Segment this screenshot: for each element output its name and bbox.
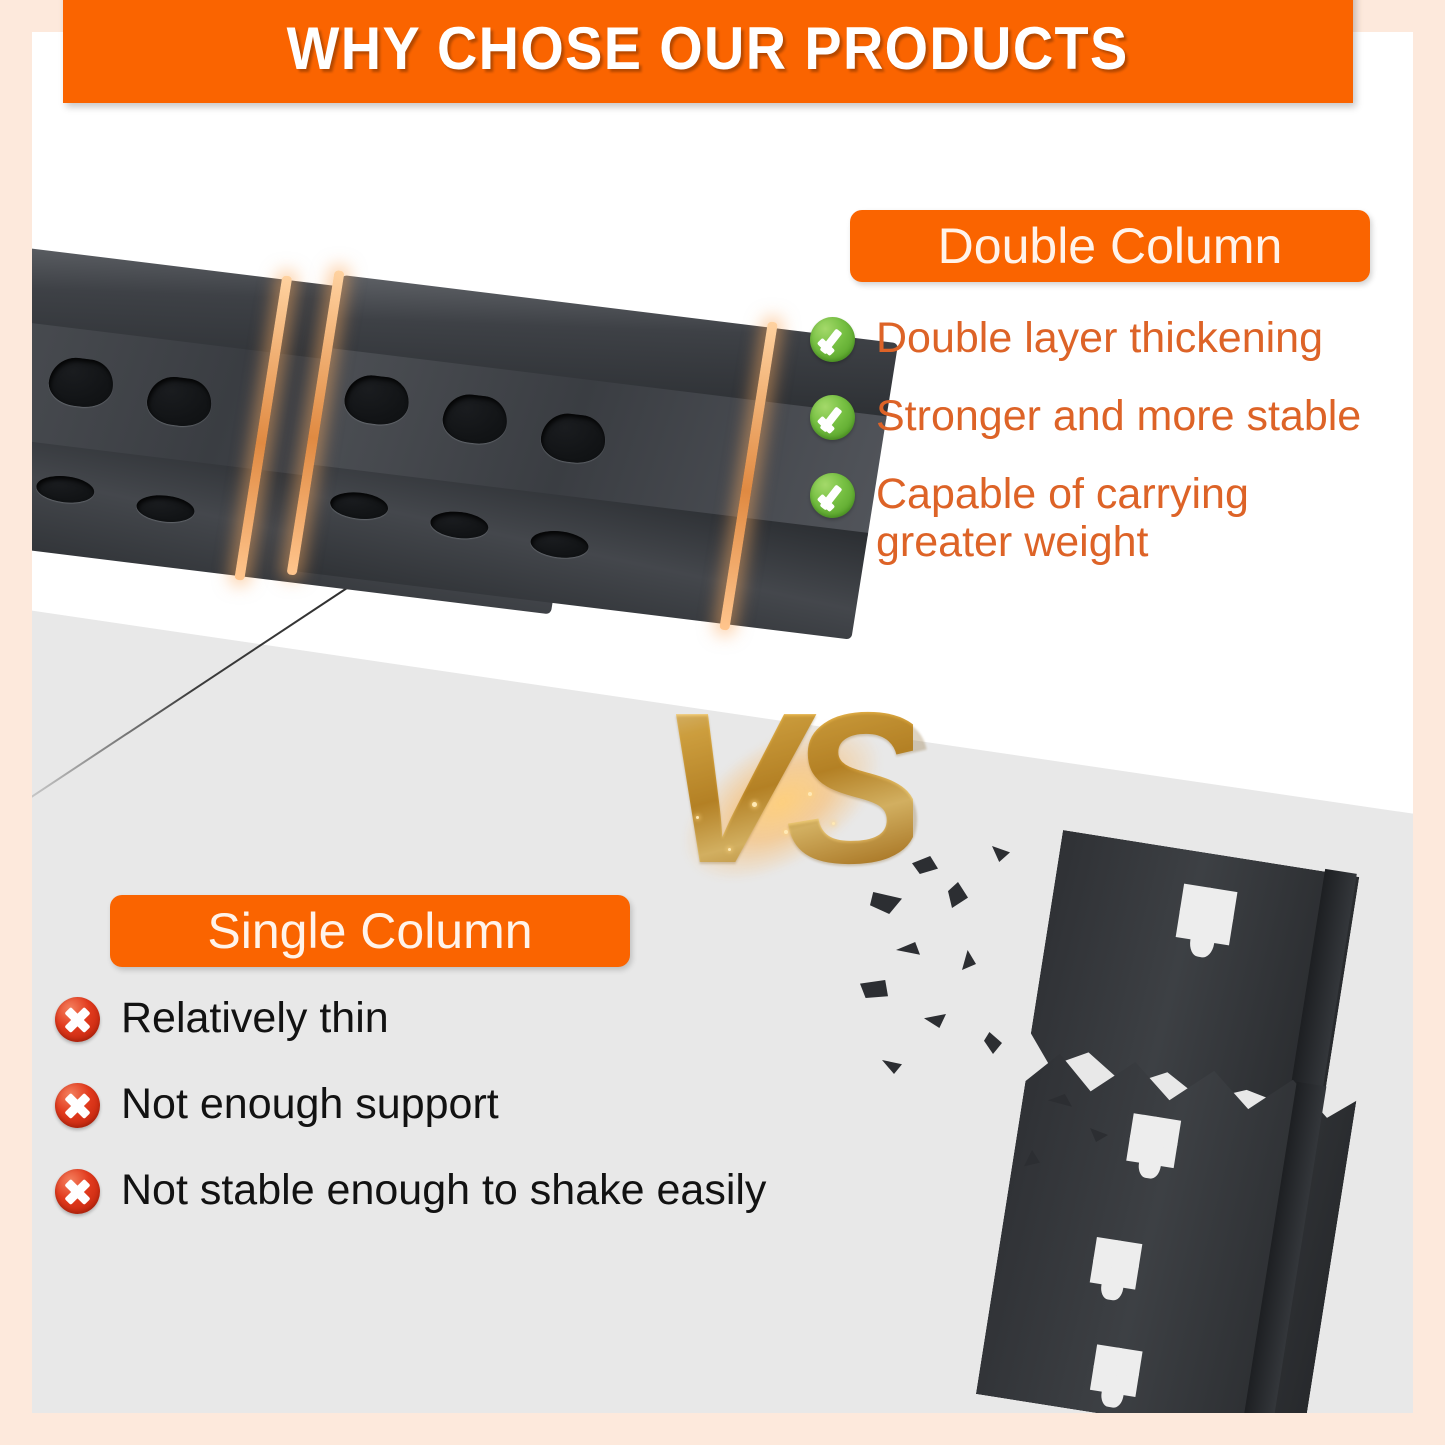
post-keyhole-slot bbox=[1126, 1113, 1181, 1168]
debris-shard bbox=[962, 950, 976, 970]
list-item-label: Not enough support bbox=[121, 1080, 499, 1128]
versus-spark bbox=[696, 816, 699, 819]
content-card: VS bbox=[32, 32, 1413, 1413]
list-item-label: Stronger and more stable bbox=[876, 392, 1361, 440]
versus-spark bbox=[808, 792, 812, 796]
post-keyhole-slot bbox=[1090, 1344, 1143, 1397]
list-item-label: Not stable enough to shake easily bbox=[121, 1166, 766, 1214]
versus-spark bbox=[832, 822, 835, 825]
list-item: Capable of carrying greater weight bbox=[810, 470, 1410, 566]
green-check-icon bbox=[810, 317, 855, 362]
versus-spark bbox=[752, 802, 757, 807]
single-column-badge: Single Column bbox=[110, 895, 630, 967]
list-item: Not stable enough to shake easily bbox=[55, 1166, 875, 1214]
double-column-beams-photo bbox=[32, 120, 812, 600]
pros-list: Double layer thickening Stronger and mor… bbox=[810, 314, 1410, 597]
red-cross-icon bbox=[55, 1169, 100, 1214]
debris-shard bbox=[882, 1060, 902, 1074]
debris-shard bbox=[948, 882, 968, 908]
debris-shard bbox=[992, 846, 1010, 862]
list-item-label: Relatively thin bbox=[121, 994, 389, 1042]
list-item: Double layer thickening bbox=[810, 314, 1410, 362]
debris-shard bbox=[984, 1032, 1002, 1054]
debris-shard bbox=[896, 942, 920, 958]
broken-post-photo bbox=[852, 832, 1412, 1412]
versus-spark bbox=[784, 830, 788, 834]
post-keyhole-slot bbox=[1090, 1237, 1143, 1290]
single-column-badge-label: Single Column bbox=[207, 902, 532, 960]
header-banner: WHY CHOSE OUR PRODUCTS bbox=[63, 0, 1353, 103]
list-item: Stronger and more stable bbox=[810, 392, 1410, 440]
red-cross-icon bbox=[55, 1083, 100, 1128]
post-keyhole-slot bbox=[1176, 884, 1238, 946]
double-column-badge: Double Column bbox=[850, 210, 1370, 282]
green-check-icon bbox=[810, 395, 855, 440]
red-cross-icon bbox=[55, 997, 100, 1042]
debris-shard bbox=[912, 856, 938, 874]
infographic-page: VS bbox=[0, 0, 1445, 1445]
debris-shard bbox=[870, 892, 902, 914]
green-check-icon bbox=[810, 473, 855, 518]
versus-spark bbox=[728, 848, 731, 851]
debris-shard bbox=[924, 1014, 946, 1028]
list-item-label: Double layer thickening bbox=[876, 314, 1323, 362]
cons-list: Relatively thin Not enough support Not s… bbox=[55, 994, 875, 1252]
list-item-label: Capable of carrying greater weight bbox=[876, 470, 1249, 566]
list-item: Not enough support bbox=[55, 1080, 875, 1128]
page-title: WHY CHOSE OUR PRODUCTS bbox=[287, 0, 1129, 83]
list-item: Relatively thin bbox=[55, 994, 875, 1042]
double-column-badge-label: Double Column bbox=[938, 217, 1283, 275]
